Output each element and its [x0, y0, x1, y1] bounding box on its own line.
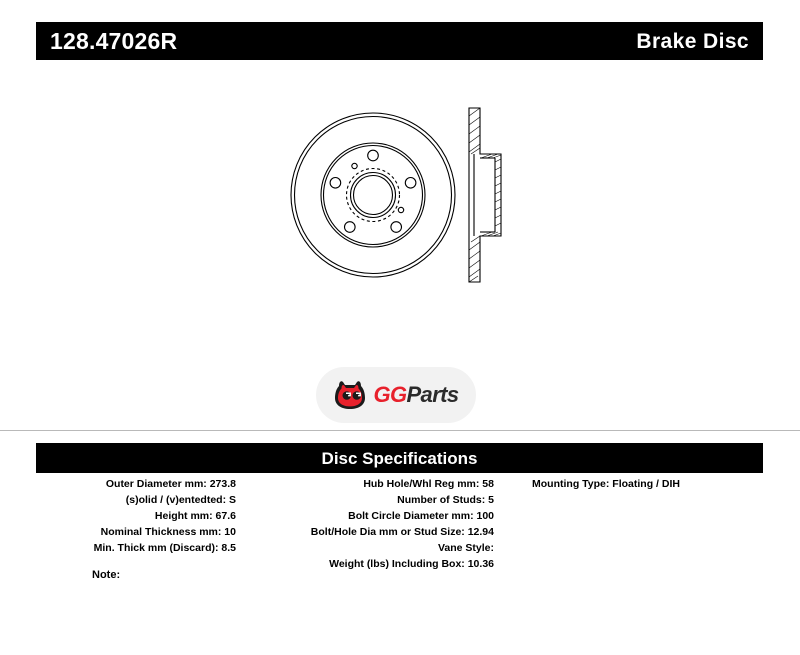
ggparts-mascot-icon: [333, 379, 367, 411]
rotor-hat-outer: [321, 143, 425, 247]
spec-row: Outer Diameter mm: 273.8: [36, 476, 236, 492]
brake-disc-drawing: [288, 98, 518, 298]
rotor-friction-ring-outer: [295, 117, 452, 274]
bolt-pitch-circle: [347, 169, 400, 222]
spec-row: Bolt/Hole Dia mm or Stud Size: 12.94: [236, 524, 494, 540]
spec-row: Nominal Thickness mm: 10: [36, 524, 236, 540]
spec-column-right: Mounting Type: Floating / DIH: [516, 476, 763, 492]
spec-row: Min. Thick mm (Discard): 8.5: [36, 540, 236, 556]
rotor-center-bore: [351, 173, 396, 218]
rotor-center-bore-inner: [354, 176, 393, 215]
disc-specifications-bar: Disc Specifications: [36, 443, 763, 473]
bolt-hole: [368, 150, 379, 161]
specifications-columns: Outer Diameter mm: 273.8 (s)olid / (v)en…: [36, 476, 763, 572]
spec-row: Weight (lbs) Including Box: 10.36: [236, 556, 494, 572]
product-type-label: Brake Disc: [636, 31, 749, 52]
bolt-hole: [405, 178, 416, 189]
ggparts-wordmark: GGParts: [373, 384, 458, 406]
note-label: Note:: [92, 570, 120, 581]
ggparts-wordmark-parts: Parts: [406, 382, 458, 407]
header-bar: 128.47026R Brake Disc: [36, 22, 763, 60]
bolt-hole: [330, 178, 341, 189]
locator-hole: [352, 163, 357, 168]
spec-row: Mounting Type: Floating / DIH: [532, 476, 763, 492]
spec-row: Vane Style:: [236, 540, 494, 556]
spec-row: (s)olid / (v)entedted: S: [36, 492, 236, 508]
disc-specifications-title: Disc Specifications: [322, 450, 478, 467]
part-number: 128.47026R: [50, 30, 177, 53]
ggparts-wordmark-gg: GG: [373, 382, 406, 407]
bolt-hole: [391, 222, 402, 233]
bolt-hole: [345, 222, 356, 233]
spec-row: Bolt Circle Diameter mm: 100: [236, 508, 494, 524]
spec-column-middle: Hub Hole/Whl Reg mm: 58 Number of Studs:…: [236, 476, 516, 572]
spec-row: Height mm: 67.6: [36, 508, 236, 524]
rotor-outer-edge: [291, 113, 455, 277]
locator-hole: [398, 207, 403, 212]
spec-column-left: Outer Diameter mm: 273.8 (s)olid / (v)en…: [36, 476, 236, 556]
ggparts-watermark: GGParts: [316, 367, 476, 423]
section-divider: [0, 430, 800, 431]
spec-row: Hub Hole/Whl Reg mm: 58: [236, 476, 494, 492]
spec-row: Number of Studs: 5: [236, 492, 494, 508]
technical-drawing-area: GGParts: [0, 70, 800, 420]
